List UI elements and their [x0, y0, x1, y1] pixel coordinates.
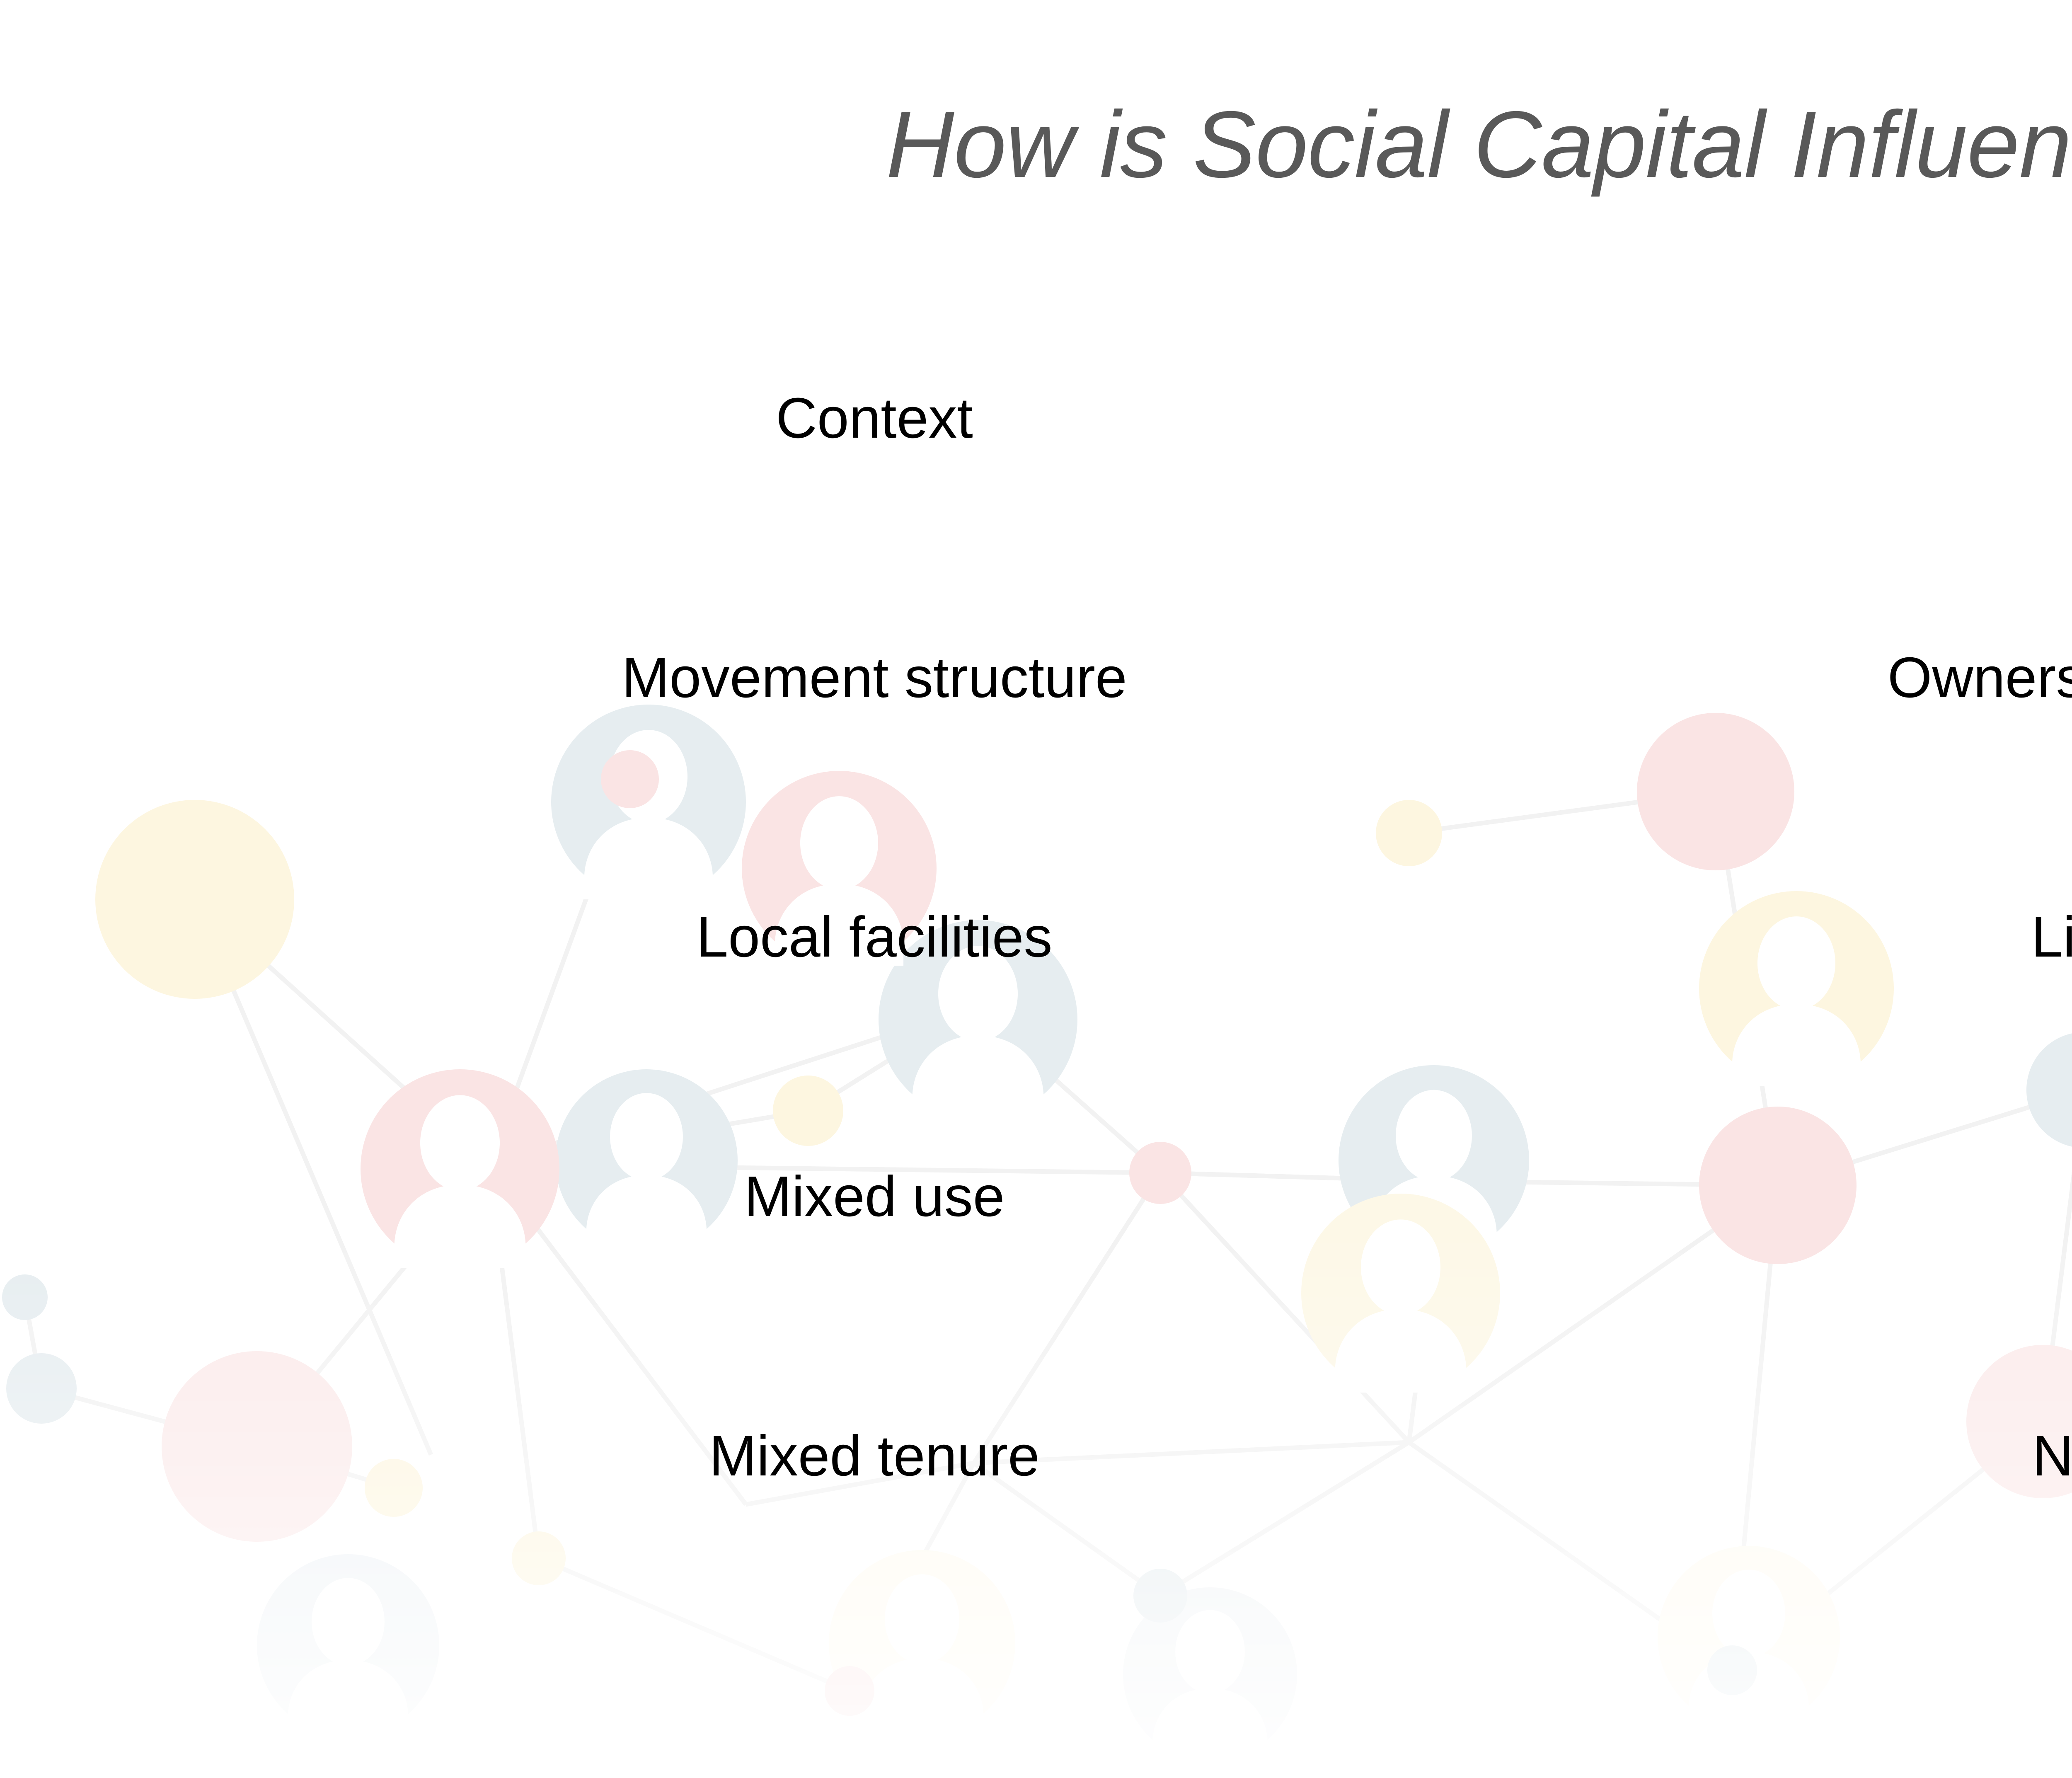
- left-item-label-1: Context: [776, 390, 973, 447]
- list-item: Life cycle needs: [1641, 390, 2072, 649]
- list-item: Ownership and Personalisation: [1641, 649, 2072, 908]
- slide-content: How is Social Capital Influenced? Contex…: [0, 0, 2072, 1778]
- left-item-label-2: Movement structure: [622, 649, 1127, 706]
- list-item: Mixed use: [232, 1168, 1517, 1427]
- page-title: How is Social Capital Influenced?: [0, 95, 2072, 194]
- presentation-slide: How is Social Capital Influenced? Contex…: [0, 0, 2072, 1778]
- list-item: Context: [232, 390, 1517, 649]
- left-item-label-5: Mixed tenure: [709, 1427, 1040, 1485]
- list-item: Lifestyle differences: [1641, 908, 2072, 1168]
- list-item: Mixed tenure: [232, 1427, 1517, 1687]
- right-item-label-5: Natural surveillance: [2032, 1427, 2072, 1485]
- right-factor-column: Life cycle needs Ownership and Personali…: [1641, 390, 2072, 1687]
- right-item-label-2: Ownership and Personalisation: [1888, 649, 2072, 706]
- list-item: Natural surveillance: [1641, 1427, 2072, 1687]
- right-item-label-3: Lifestyle differences: [2031, 908, 2072, 966]
- left-item-label-3: Local facilities: [696, 908, 1052, 966]
- list-item: Movement structure: [232, 649, 1517, 908]
- list-item: Local facilities: [232, 908, 1517, 1168]
- left-item-label-4: Mixed use: [744, 1168, 1005, 1225]
- left-factor-column: Context Movement structure Local facilit…: [232, 390, 1517, 1687]
- list-item: Public space: [1641, 1168, 2072, 1427]
